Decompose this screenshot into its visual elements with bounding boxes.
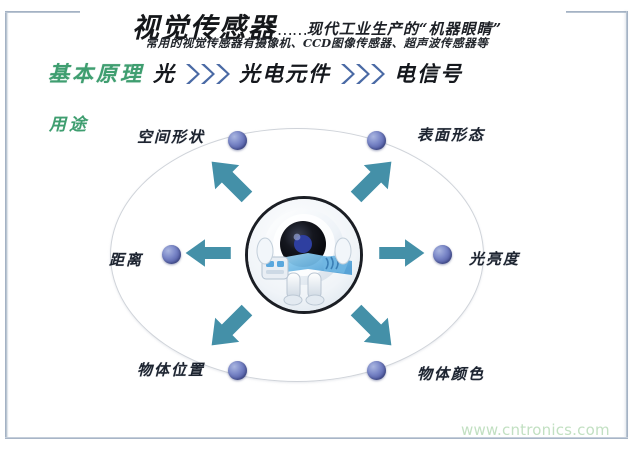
arrow-to-right — [376, 222, 426, 284]
principle-step-1: 光 — [153, 58, 176, 88]
principle-step-2: 光电元件 — [239, 58, 331, 88]
node-top-left[interactable] — [228, 131, 247, 150]
page-subtitle: 常用的视觉传感器有摄像机、CCD图像传感器、超声波传感器等 — [0, 35, 634, 51]
robot-camera-icon — [245, 196, 363, 314]
node-right[interactable] — [433, 245, 452, 264]
node-bottom-left[interactable] — [228, 361, 247, 380]
chevron-right-icon — [215, 62, 230, 84]
frame-border-left — [5, 11, 7, 438]
node-bottom-right[interactable] — [367, 361, 386, 380]
usage-section-label: 用途 — [49, 110, 89, 135]
usage-label-distance: 距离 — [109, 249, 143, 270]
subtitle-part-1: 常用的视觉传感器有摄像机、 — [146, 36, 303, 50]
arrow-to-left — [184, 222, 234, 284]
usage-label-surface-form: 表面形态 — [417, 124, 485, 145]
usage-label-object-color: 物体颜色 — [417, 363, 485, 384]
chevron-right-icon — [370, 62, 385, 84]
chevron-right-icon — [340, 62, 355, 84]
principle-step-3: 电信号 — [394, 58, 463, 88]
usage-label-spatial-shape: 空间形状 — [137, 126, 205, 147]
node-top-right[interactable] — [367, 131, 386, 150]
subtitle-part-2: 图像传感器、超声波传感器等 — [331, 36, 488, 50]
chevron-right-icon — [185, 62, 200, 84]
usage-label-object-position: 物体位置 — [137, 359, 205, 380]
chevron-group-2 — [340, 62, 385, 84]
principle-flow: 基本原理 光 光电元件 电信号 — [48, 58, 463, 88]
chevron-group-1 — [185, 62, 230, 84]
usage-label-brightness: 光亮度 — [469, 248, 520, 269]
chevron-right-icon — [200, 62, 215, 84]
slide-canvas: 视觉传感器……现代工业生产的“机器眼睛” 常用的视觉传感器有摄像机、CCD图像传… — [0, 0, 634, 454]
chevron-right-icon — [355, 62, 370, 84]
principle-label: 基本原理 — [48, 58, 144, 88]
site-watermark: www.cntronics.com — [461, 421, 610, 439]
frame-border-right — [626, 11, 628, 438]
node-left[interactable] — [162, 245, 181, 264]
subtitle-ccd: CCD — [303, 36, 331, 50]
